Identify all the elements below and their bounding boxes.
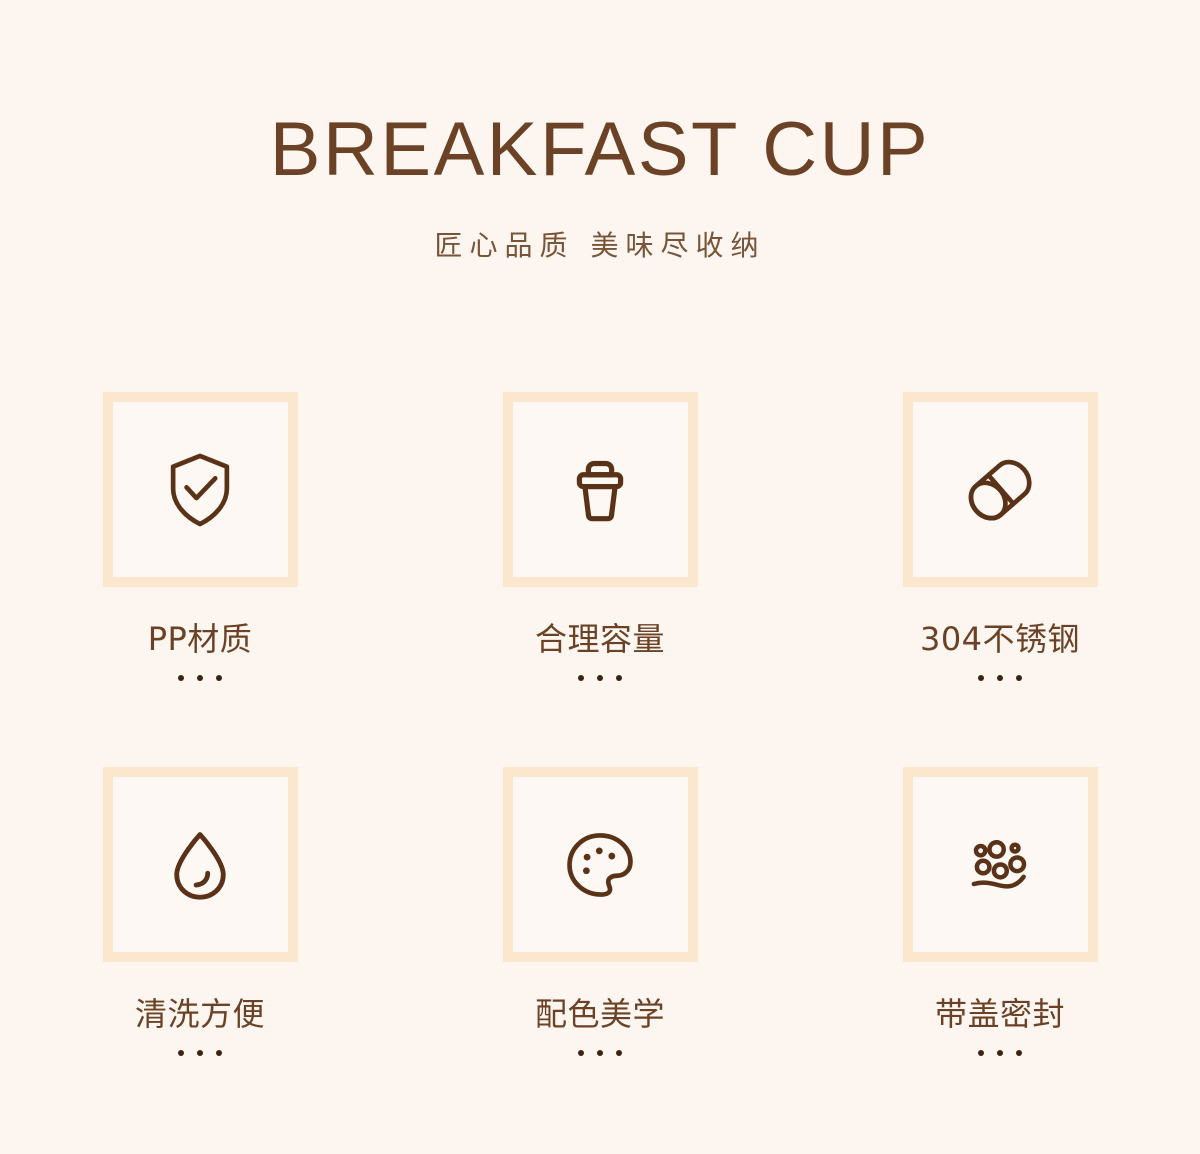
- feature-label: 合理容量: [535, 623, 665, 655]
- feature-dots: [978, 675, 1022, 681]
- dot: [616, 1050, 622, 1056]
- page-subtitle: 匠心品质 美味尽收纳: [0, 188, 1200, 264]
- feature-item-color-aesthetics: 配色美学: [424, 767, 776, 1142]
- feature-item-capacity: 合理容量: [424, 392, 776, 767]
- icon-frame: [103, 392, 298, 587]
- water-drop-icon: [157, 822, 243, 908]
- dot: [197, 1050, 203, 1056]
- icon-frame: [903, 392, 1098, 587]
- feature-item-lid-seal: 带盖密封: [824, 767, 1176, 1142]
- page-header: BREAKFAST CUP 匠心品质 美味尽收纳: [0, 0, 1200, 264]
- dot: [597, 1050, 603, 1056]
- icon-frame: [903, 767, 1098, 962]
- dot: [178, 1050, 184, 1056]
- feature-label: 清洗方便: [135, 998, 265, 1030]
- dot: [178, 675, 184, 681]
- dot: [616, 675, 622, 681]
- feature-grid: PP材质 合理容量: [0, 392, 1200, 1142]
- feature-label: 带盖密封: [935, 998, 1065, 1030]
- feature-item-pp-material: PP材质: [24, 392, 376, 767]
- paint-palette-icon: [557, 822, 643, 908]
- feature-item-easy-clean: 清洗方便: [24, 767, 376, 1142]
- icon-frame: [503, 767, 698, 962]
- dot: [216, 675, 222, 681]
- steel-cylinder-icon: [957, 447, 1043, 533]
- feature-dots: [178, 1050, 222, 1056]
- dot: [578, 675, 584, 681]
- page-title: BREAKFAST CUP: [0, 0, 1200, 188]
- dot: [997, 1050, 1003, 1056]
- dot: [978, 675, 984, 681]
- dot: [1016, 675, 1022, 681]
- feature-dots: [578, 675, 622, 681]
- dot: [197, 675, 203, 681]
- sealed-bubbles-icon: [957, 822, 1043, 908]
- feature-dots: [178, 675, 222, 681]
- feature-dots: [578, 1050, 622, 1056]
- dot: [216, 1050, 222, 1056]
- feature-label: 304不锈钢: [920, 623, 1080, 655]
- coffee-cup-icon: [557, 447, 643, 533]
- dot: [597, 675, 603, 681]
- dot: [997, 675, 1003, 681]
- dot: [578, 1050, 584, 1056]
- feature-label: 配色美学: [535, 998, 665, 1030]
- dot: [1016, 1050, 1022, 1056]
- icon-frame: [503, 392, 698, 587]
- feature-dots: [978, 1050, 1022, 1056]
- dot: [978, 1050, 984, 1056]
- feature-label: PP材质: [148, 623, 253, 655]
- icon-frame: [103, 767, 298, 962]
- shield-check-icon: [157, 447, 243, 533]
- feature-item-stainless-steel: 304不锈钢: [824, 392, 1176, 767]
- product-feature-page: BREAKFAST CUP 匠心品质 美味尽收纳 PP材质: [0, 0, 1200, 1154]
